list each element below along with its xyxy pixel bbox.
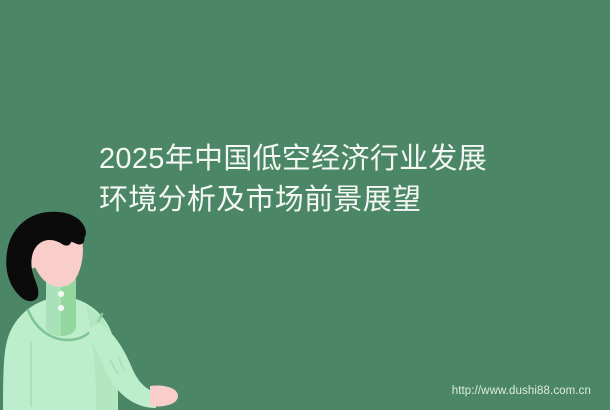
- title-line-1: 2025年中国低空经济行业发展: [99, 139, 519, 180]
- page-title: 2025年中国低空经济行业发展 环境分析及市场前景展望: [99, 139, 519, 221]
- person-illustration-svg: [0, 210, 210, 410]
- watermark-url: http://www.dushi88.com.cn: [452, 385, 591, 397]
- hand-shape: [150, 385, 178, 406]
- collar-button-top-icon: [58, 291, 64, 297]
- article-cover-image: 2025年中国低空经济行业发展 环境分析及市场前景展望 http://www.d…: [0, 0, 610, 410]
- person-illustration: [0, 210, 210, 410]
- collar-button-bottom-icon: [58, 305, 64, 311]
